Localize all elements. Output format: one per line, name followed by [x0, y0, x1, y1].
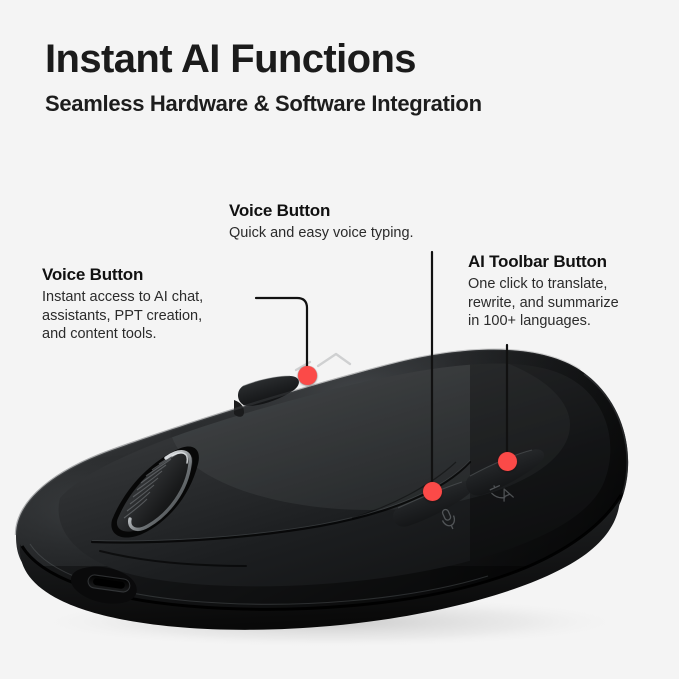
callout-ai-toolbar-button: AI Toolbar Button One click to translate… [468, 252, 619, 331]
infographic-canvas: Instant AI Functions Seamless Hardware &… [0, 0, 679, 679]
page-title: Instant AI Functions [45, 36, 416, 82]
callout-description: One click to translate, rewrite, and sum… [468, 275, 619, 331]
marker-dot-voice-button-top[interactable] [298, 366, 317, 385]
marker-dot-voice-button-side[interactable] [423, 482, 442, 501]
marker-dot-ai-toolbar-button[interactable] [498, 452, 517, 471]
callout-title: Voice Button [229, 201, 414, 221]
callout-description: Instant access to AI chat, assistants, P… [42, 288, 203, 344]
callout-description: Quick and easy voice typing. [229, 224, 414, 243]
callout-voice-button-middle: Voice Button Quick and easy voice typing… [229, 201, 414, 243]
callout-title: Voice Button [42, 265, 203, 285]
page-subtitle: Seamless Hardware & Software Integration [45, 91, 482, 117]
callout-voice-button-left: Voice Button Instant access to AI chat, … [42, 265, 203, 344]
product-image-mouse [0, 330, 679, 660]
callout-title: AI Toolbar Button [468, 252, 619, 272]
